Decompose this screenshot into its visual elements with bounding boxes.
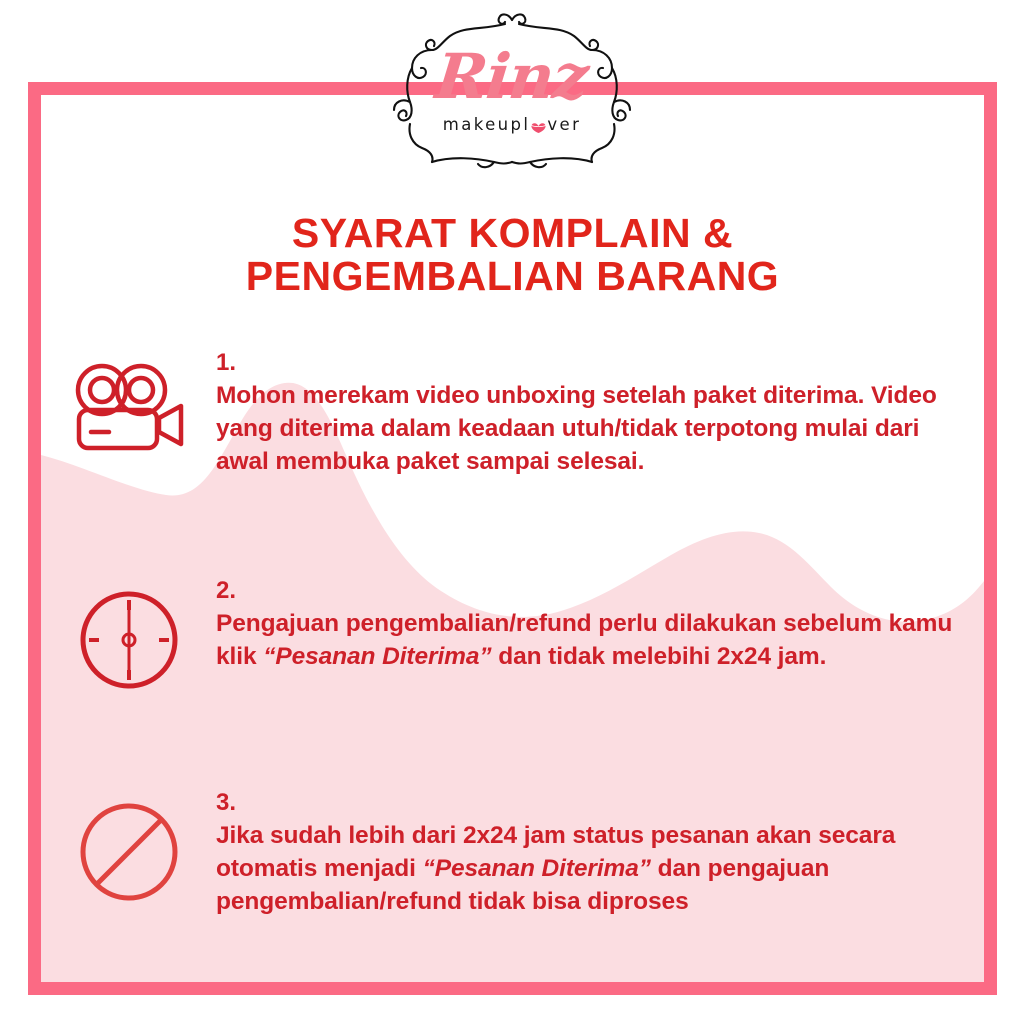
list-item-text: Pengajuan pengembalian/refund perlu dila… (216, 608, 958, 673)
lips-icon (531, 119, 546, 131)
brand-tagline: makeupl ver (443, 115, 582, 134)
list-item: 3. Jika sudah lebih dari 2x24 jam status… (41, 790, 984, 918)
list-item-body: 2. Pengajuan pengembalian/refund perlu d… (216, 578, 984, 674)
prohibition-glyph (77, 800, 181, 904)
list-item-quote: “Pesanan Diterima” (263, 643, 491, 670)
video-camera-icon (41, 350, 216, 456)
list-item-number: 1. (216, 350, 958, 376)
list-item: 1. Mohon merekam video unboxing setelah … (41, 350, 984, 478)
list-item-number: 3. (216, 790, 958, 816)
list-item-text-part2: dan tidak melebihi 2x24 jam. (492, 643, 827, 670)
brand-tagline-after: ver (547, 115, 581, 134)
list-item-text-part1: Mohon merekam video unboxing setelah pak… (216, 382, 937, 474)
video-camera-glyph (71, 360, 187, 456)
list-item-text: Mohon merekam video unboxing setelah pak… (216, 380, 958, 478)
title-line-2: PENGEMBALIAN BARANG (41, 255, 984, 298)
list-item-body: 1. Mohon merekam video unboxing setelah … (216, 350, 984, 478)
page-title: SYARAT KOMPLAIN & PENGEMBALIAN BARANG (41, 212, 984, 299)
clock-glyph (77, 588, 181, 692)
brand-logo: Rinz makeupl ver (0, 4, 1024, 172)
list-item: 2. Pengajuan pengembalian/refund perlu d… (41, 578, 984, 692)
brand-logo-inner: Rinz makeupl ver (372, 6, 652, 170)
list-item-quote: “Pesanan Diterima” (423, 855, 651, 882)
prohibition-icon (41, 790, 216, 904)
list-item-number: 2. (216, 578, 958, 604)
brand-name: Rinz (433, 48, 591, 107)
lips-glyph (531, 122, 546, 134)
list-item-text: Jika sudah lebih dari 2x24 jam status pe… (216, 820, 958, 918)
clock-icon (41, 578, 216, 692)
list-item-body: 3. Jika sudah lebih dari 2x24 jam status… (216, 790, 984, 918)
title-line-1: SYARAT KOMPLAIN & (41, 212, 984, 255)
poster-canvas: SYARAT KOMPLAIN & PENGEMBALIAN BARANG 1.… (0, 0, 1024, 1024)
brand-tagline-before: makeupl (443, 115, 531, 134)
